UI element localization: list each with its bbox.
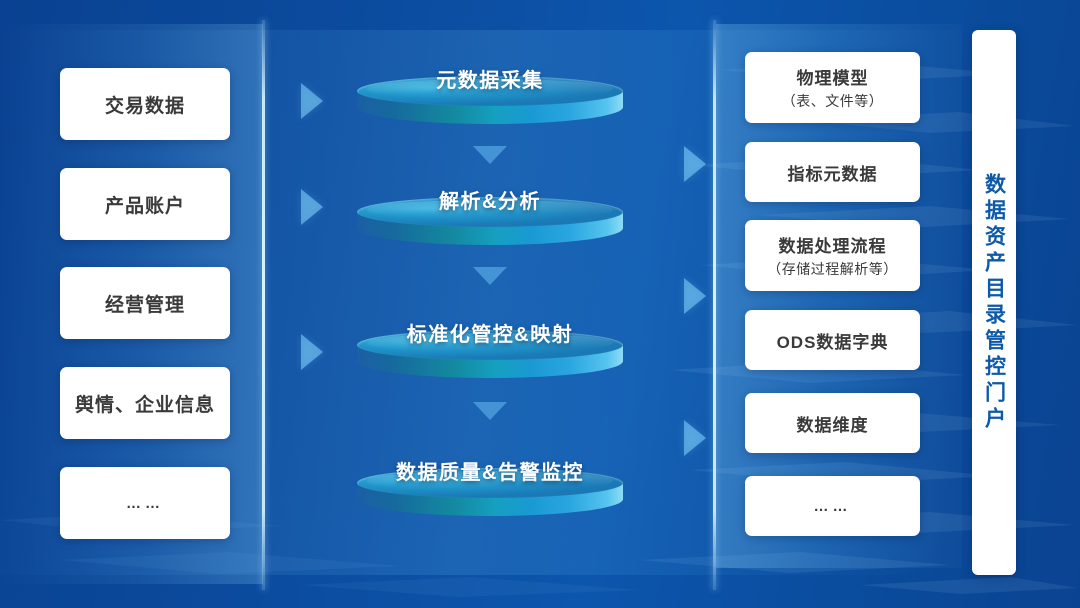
output-card-title: 数据处理流程 <box>779 232 887 257</box>
pipeline-stage-standardization-mapping[interactable]: 标准化管控&映射 <box>357 330 623 392</box>
output-card-indicator-metadata[interactable]: 指标元数据 <box>745 142 920 202</box>
divider-sources-pipeline <box>262 20 265 590</box>
output-card-data-dimension[interactable]: 数据维度 <box>745 393 920 453</box>
pipeline-stage-data-quality-alert-monitoring[interactable]: 数据质量&告警监控 <box>357 468 623 530</box>
source-card-product-account[interactable]: 产品账户 <box>60 168 230 240</box>
output-card-subtitle: （存储过程解析等） <box>767 259 898 279</box>
arrow-down-icon-1 <box>473 146 507 164</box>
output-card-data-processing-flow[interactable]: 数据处理流程 （存储过程解析等） <box>745 220 920 291</box>
source-card-label: 经营管理 <box>105 290 185 317</box>
output-card-subtitle: （表、文件等） <box>782 91 884 111</box>
source-card-label: 产品账户 <box>105 191 185 218</box>
source-card-transaction-data[interactable]: 交易数据 <box>60 68 230 140</box>
output-card-physical-model[interactable]: 物理模型 （表、文件等） <box>745 52 920 123</box>
arrow-right-icon-2 <box>301 189 323 225</box>
arrow-right-icon-6 <box>684 420 706 456</box>
pipeline-stage-label: 解析&分析 <box>357 185 623 214</box>
arrow-right-icon-1 <box>301 83 323 119</box>
pipeline-stage-metadata-collection[interactable]: 元数据采集 <box>357 76 623 138</box>
pipeline-stage-label: 元数据采集 <box>357 64 623 93</box>
arrow-right-icon-4 <box>684 146 706 182</box>
output-card-title: 指标元数据 <box>788 160 878 185</box>
source-card-business-management[interactable]: 经营管理 <box>60 267 230 339</box>
output-card-title: 物理模型 <box>797 64 869 89</box>
source-card-label: 舆情、企业信息 <box>75 390 215 417</box>
source-card-label: …… <box>126 495 164 512</box>
source-card-label: 交易数据 <box>105 91 185 118</box>
diagram-canvas: 交易数据 产品账户 经营管理 舆情、企业信息 …… 元数据采集 解析&分析 标准… <box>0 0 1080 608</box>
vertical-banner-label: 数据资产目录管控门户 <box>984 173 1005 433</box>
output-card-title: 数据维度 <box>797 411 869 436</box>
pipeline-stage-label: 数据质量&告警监控 <box>357 456 623 485</box>
arrow-down-icon-3 <box>473 402 507 420</box>
output-card-title: …… <box>814 498 852 515</box>
output-card-title: ODS数据字典 <box>777 328 889 353</box>
output-card-ods-data-dictionary[interactable]: ODS数据字典 <box>745 310 920 370</box>
source-card-more[interactable]: …… <box>60 467 230 539</box>
arrow-right-icon-3 <box>301 334 323 370</box>
divider-pipeline-outputs <box>713 20 716 590</box>
pipeline-stage-parse-analyze[interactable]: 解析&分析 <box>357 197 623 259</box>
arrow-down-icon-2 <box>473 267 507 285</box>
output-card-more[interactable]: …… <box>745 476 920 536</box>
vertical-banner-data-asset-catalog-portal[interactable]: 数据资产目录管控门户 <box>972 30 1016 575</box>
source-card-public-opinion-enterprise-info[interactable]: 舆情、企业信息 <box>60 367 230 439</box>
arrow-right-icon-5 <box>684 278 706 314</box>
pipeline-stage-label: 标准化管控&映射 <box>357 318 623 347</box>
